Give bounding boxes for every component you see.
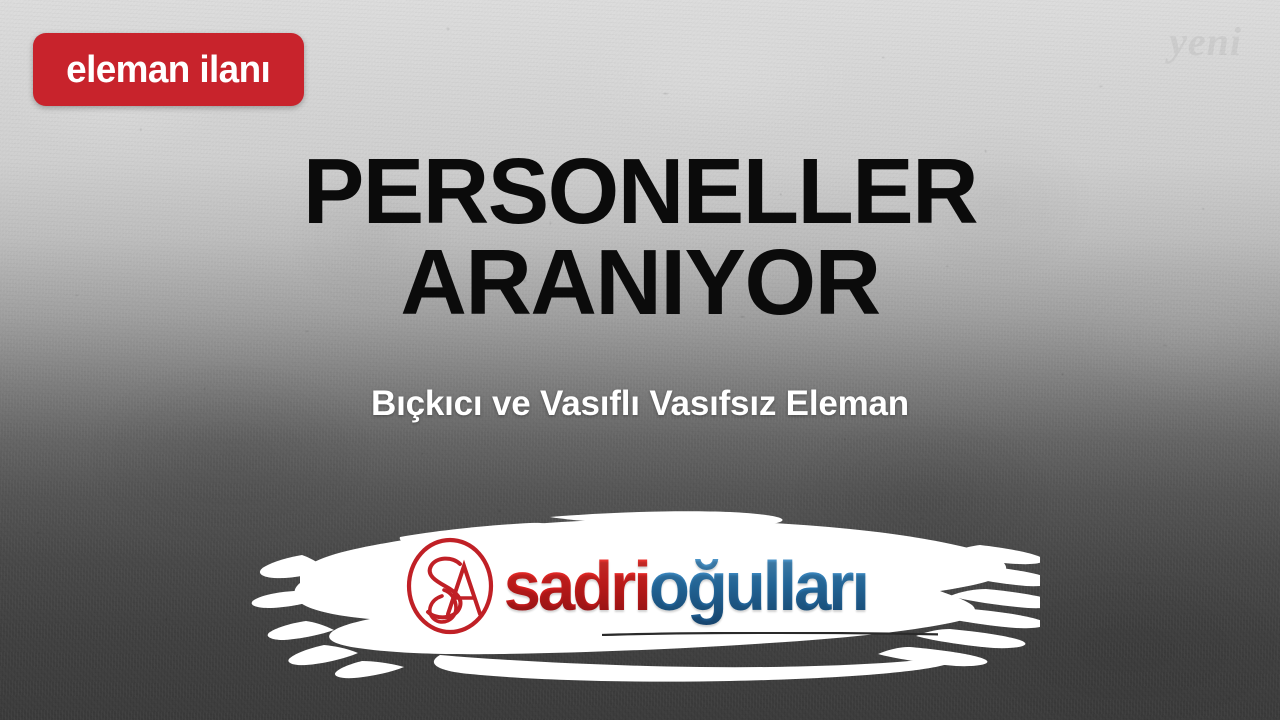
sa-monogram-icon [398, 534, 502, 638]
logo-underline-swoosh [602, 632, 938, 636]
logo-brush-stroke-area: sadrioğulları [250, 495, 1040, 685]
page-title: PERSONELLER ARANIYOR [0, 146, 1280, 328]
headline-line-1: PERSONELLER [6, 146, 1273, 237]
background-watermark: yeni [1169, 18, 1242, 65]
badge-label: eleman ilanı [66, 51, 270, 89]
job-advert-poster: yeni eleman ilanı PERSONELLER ARANIYOR B… [0, 0, 1280, 720]
company-logo: sadrioğulları [398, 533, 875, 639]
page-subtitle: Bıçkıcı ve Vasıflı Vasıfsız Eleman [0, 384, 1280, 424]
company-name-part1: sadri [504, 547, 649, 625]
company-name-part2: oğulları [649, 547, 867, 625]
eleman-ilani-badge: eleman ilanı [33, 33, 304, 106]
company-name: sadrioğulları [504, 551, 867, 621]
headline-line-2: ARANIYOR [6, 237, 1273, 328]
